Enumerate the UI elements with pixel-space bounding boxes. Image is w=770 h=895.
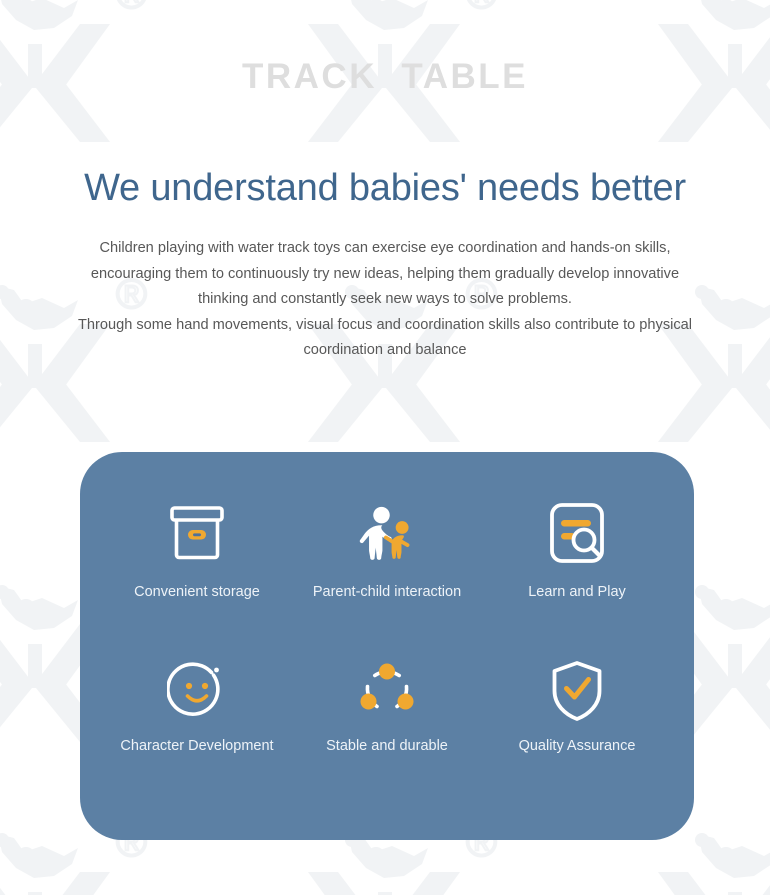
feature-row: Convenient storage Parent-child interact…: [102, 500, 672, 656]
shield-check-icon: [544, 658, 610, 724]
parent-child-icon: [354, 500, 420, 566]
feature-item-stable-and-durable[interactable]: Stable and durable: [292, 656, 482, 806]
intro-line: coordination and balance: [0, 338, 770, 364]
feature-label: Quality Assurance: [519, 736, 636, 756]
intro-paragraph: Children playing with water track toys c…: [0, 236, 770, 364]
intro-line: Children playing with water track toys c…: [0, 236, 770, 262]
feature-item-convenient-storage[interactable]: Convenient storage: [102, 500, 292, 656]
feature-card: Convenient storage Parent-child interact…: [80, 452, 694, 840]
three-dot-circle-icon: [354, 658, 420, 724]
feature-label: Learn and Play: [528, 582, 626, 602]
feature-label: Parent-child interaction: [313, 582, 461, 602]
page-content: TRACK TABLE We understand babies' needs …: [0, 0, 770, 895]
document-search-icon: [544, 500, 610, 566]
feature-item-parent-child-interaction[interactable]: Parent-child interaction: [292, 500, 482, 656]
intro-line: encouraging them to continuously try new…: [0, 262, 770, 288]
feature-item-character-development[interactable]: Character Development: [102, 656, 292, 806]
intro-line: Through some hand movements, visual focu…: [0, 313, 770, 339]
feature-item-learn-and-play[interactable]: Learn and Play: [482, 500, 672, 656]
feature-item-quality-assurance[interactable]: Quality Assurance: [482, 656, 672, 806]
feature-label: Convenient storage: [134, 582, 260, 602]
feature-label: Stable and durable: [326, 736, 448, 756]
smiley-face-icon: [164, 658, 230, 724]
eyebrow-title: TRACK TABLE: [0, 57, 770, 97]
storage-box-icon: [164, 500, 230, 566]
page-title: We understand babies' needs better: [0, 167, 770, 210]
intro-line: thinking and constantly seek new ways to…: [0, 287, 770, 313]
feature-row: Character Development Stable and durable: [102, 656, 672, 806]
feature-label: Character Development: [120, 736, 273, 756]
